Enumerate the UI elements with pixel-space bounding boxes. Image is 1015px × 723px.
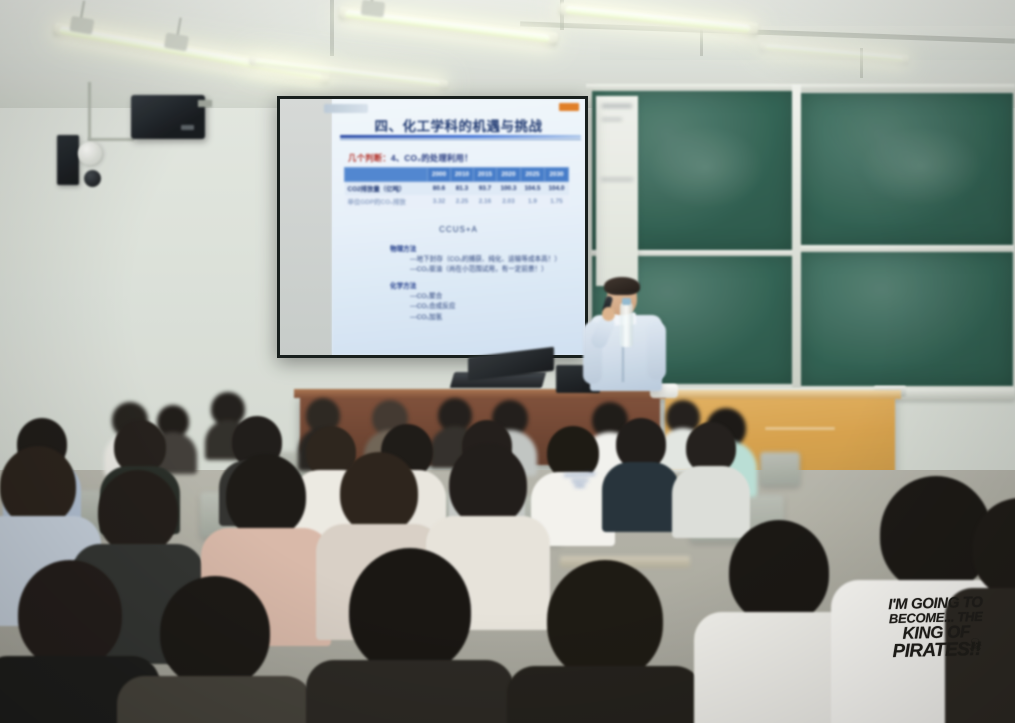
chemical-methods-block: 化学方法 —CO₂聚合 —CO₂合成反应 —CO₂加氢 <box>390 282 455 323</box>
slide-subtitle-blue: 4、CO₂的处理利用！ <box>391 153 473 163</box>
row-label: 单位GDP的CO₂排放 <box>345 195 428 208</box>
section-item: —CO₂聚合 <box>410 292 455 302</box>
student <box>680 422 742 522</box>
bottle-cap <box>622 298 631 305</box>
table-col-header: 2030 <box>544 168 568 182</box>
lectern-top <box>659 390 901 399</box>
screen-left-margin <box>280 99 332 355</box>
table-row: CO2排放量（亿吨） 80.6 81.3 93.7 100.3 104.5 10… <box>345 182 569 196</box>
table-row: 单位GDP的CO₂排放 3.32 2.25 2.16 2.03 1.9 1.75 <box>345 195 569 208</box>
slide-title-rule <box>340 135 581 138</box>
table-col-header: 2020 <box>496 168 520 182</box>
projection-screen[interactable]: 四、化工学科的机遇与挑战 几个判断：4、CO₂的处理利用！ 2000 2010 … <box>277 96 588 358</box>
cell: 104.5 <box>520 182 544 196</box>
chalkboard-panel <box>801 252 1013 386</box>
speaker-right-arm <box>647 322 666 380</box>
camera-dome <box>78 142 102 165</box>
board-frame-mid <box>801 245 1013 252</box>
wall-speaker <box>131 95 205 139</box>
cell: 93.7 <box>473 182 496 196</box>
cell: 3.32 <box>428 195 451 208</box>
student <box>330 548 490 723</box>
section-heading: 物理方法 <box>390 245 561 255</box>
skull-icon: ☠ <box>968 638 985 655</box>
slide-title-rule-thin <box>340 139 581 140</box>
cell: 80.6 <box>428 182 451 196</box>
table-col-header: 2010 <box>451 168 474 182</box>
section-item: —地下封存（CO₂的捕获、纯化、运输等成本高！） <box>410 255 561 265</box>
physical-methods-block: 物理方法 —地下封存（CO₂的捕获、纯化、运输等成本高！） —CO₂驱油（尚在小… <box>390 245 561 276</box>
board-frame-vert <box>792 84 801 389</box>
side-panel-text <box>601 178 633 181</box>
co2-emissions-table: 2000 2010 2015 2020 2025 2030 CO2排放量（亿吨）… <box>344 167 569 208</box>
cell: 2.03 <box>496 195 520 208</box>
cell: 2.25 <box>451 195 474 208</box>
table-col-header: 2025 <box>520 168 544 182</box>
side-panel-text <box>602 104 632 108</box>
side-whiteboard-panel <box>596 96 638 286</box>
cell: 81.3 <box>451 182 474 196</box>
speaker-bracket <box>198 100 212 107</box>
side-panel-text <box>602 118 622 121</box>
slide-corner-badge <box>559 103 579 111</box>
section-item: —CO₂驱油（尚在小范围试用，有一定前景！） <box>410 265 561 275</box>
slide-content: 四、化工学科的机遇与挑战 几个判断：4、CO₂的处理利用！ 2000 2010 … <box>332 99 585 355</box>
speaker-hand <box>602 307 615 321</box>
lecture-hall-photo: 四、化工学科的机遇与挑战 几个判断：4、CO₂的处理利用！ 2000 2010 … <box>0 0 1015 723</box>
cell: 2.16 <box>473 195 496 208</box>
blue-tshirt-print: Environmental Science Dept. <box>559 471 602 490</box>
section-heading: 化学方法 <box>390 282 455 292</box>
section-item: —CO₂合成反应 <box>410 302 455 312</box>
table-col-header: 2015 <box>473 168 496 182</box>
mounting-bracket <box>88 138 134 141</box>
mounting-pipe <box>88 82 91 140</box>
table-col-header <box>345 168 428 182</box>
student <box>960 498 1015 723</box>
ccus-label: CCUS+A <box>332 225 585 234</box>
section-item: —CO₂加氢 <box>410 313 455 323</box>
table-col-header: 2000 <box>428 168 451 182</box>
slide-title: 四、化工学科的机遇与挑战 <box>332 115 585 135</box>
cell: 1.75 <box>544 195 568 208</box>
table-header-row: 2000 2010 2015 2020 2025 2030 <box>345 168 569 182</box>
slide-subtitle: 几个判断：4、CO₂的处理利用！ <box>348 152 473 164</box>
slide-subtitle-red: 几个判断： <box>348 153 391 163</box>
cell: 104.0 <box>544 182 568 196</box>
slide-logo-tab <box>324 104 368 113</box>
chair <box>760 452 800 486</box>
row-label: CO2排放量（亿吨） <box>345 182 428 196</box>
student <box>530 560 680 723</box>
chalkboard-panel <box>801 93 1013 246</box>
water-bottle <box>620 303 633 347</box>
cell: 100.3 <box>496 182 520 196</box>
student <box>610 418 672 516</box>
student <box>716 520 842 720</box>
cell: 1.9 <box>520 195 544 208</box>
camera-housing <box>57 135 79 185</box>
student <box>140 576 290 723</box>
camera-lens-icon <box>84 170 101 187</box>
lectern-groove <box>765 427 835 430</box>
ceiling-beam <box>330 0 334 56</box>
